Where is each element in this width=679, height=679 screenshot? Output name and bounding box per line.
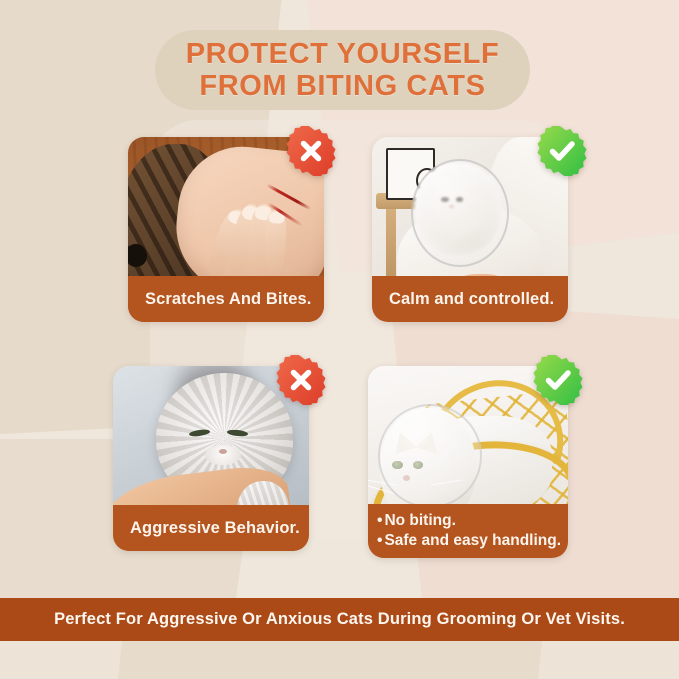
check-badge-icon <box>537 126 587 176</box>
card-caption-line: Safe and easy handling. <box>377 532 568 551</box>
cat-eye <box>189 429 210 438</box>
card-caption-line: No biting. <box>377 512 568 531</box>
card-caption: Aggressive Behavior. <box>113 505 309 551</box>
card-caption: Scratches And Bites. <box>128 276 324 322</box>
title-line-2: FROM BITING CATS <box>199 71 485 102</box>
poster-title: PROTECT YOURSELF FROM BITING CATS <box>155 30 530 110</box>
background-shape-bottom-strip-accent <box>118 641 542 679</box>
transparent-muzzle <box>378 404 482 508</box>
cat-eye <box>128 242 149 270</box>
cat-eye <box>227 429 248 437</box>
footer-banner-text: Perfect For Aggressive Or Anxious Cats D… <box>54 610 625 629</box>
footer-banner: Perfect For Aggressive Or Anxious Cats D… <box>0 598 679 641</box>
transparent-muzzle <box>411 159 509 267</box>
card-caption: Calm and controlled. <box>372 276 568 322</box>
cat-nose <box>219 449 227 454</box>
card-caption-text: Aggressive Behavior. <box>130 519 300 538</box>
card-caption: No biting. Safe and easy handling. <box>368 504 568 558</box>
check-badge-icon <box>533 355 583 405</box>
title-line-1: PROTECT YOURSELF <box>186 39 500 70</box>
card-caption-text: Calm and controlled. <box>389 290 554 309</box>
infographic-poster: PROTECT YOURSELF FROM BITING CATS <box>0 0 679 679</box>
cross-badge-icon <box>286 126 336 176</box>
cross-badge-icon <box>276 355 326 405</box>
card-caption-text: Scratches And Bites. <box>145 290 311 309</box>
cat-snout <box>205 445 241 466</box>
finger <box>264 209 288 281</box>
